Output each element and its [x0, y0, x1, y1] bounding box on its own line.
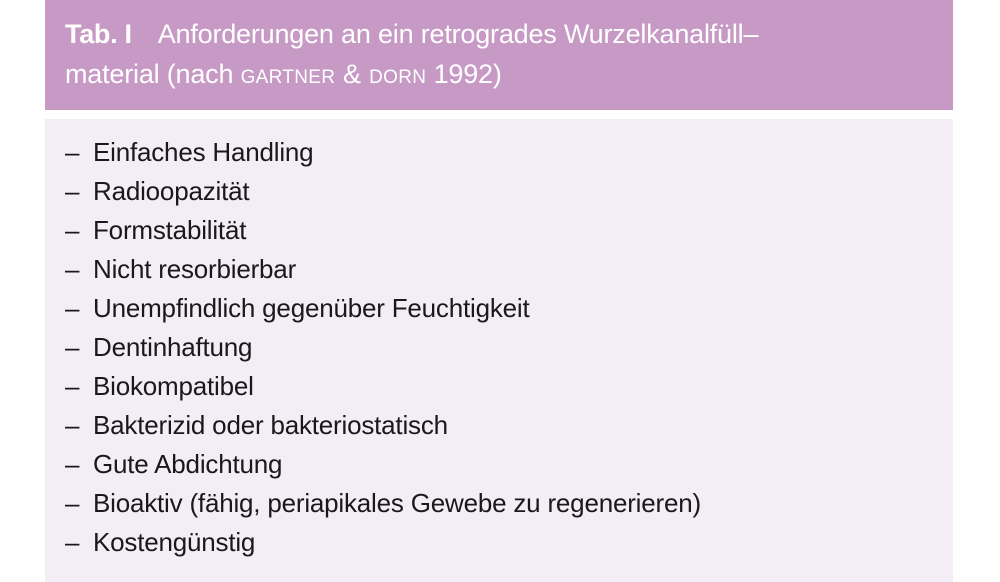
list-item: – Nicht resorbierbar	[65, 250, 933, 289]
citation-year-spacer	[426, 59, 433, 89]
table-title-text-line-1: Anforderungen an ein retrogrades Wurzelk…	[158, 19, 759, 49]
table-title-text-line-2-prefix: material (nach	[65, 59, 241, 89]
list-item: – Gute Abdichtung	[65, 445, 933, 484]
citation-year: 1992	[434, 59, 493, 89]
list-item-label: Kostengünstig	[93, 523, 255, 562]
list-item-label: Gute Abdichtung	[93, 445, 282, 484]
list-item: – Biokompatibel	[65, 367, 933, 406]
header-body-divider	[45, 110, 953, 119]
table-number-label: Tab. I	[65, 19, 132, 49]
list-item: – Kostengünstig	[65, 523, 933, 562]
list-item: – Bakterizid oder bakteriostatisch	[65, 406, 933, 445]
list-item: – Einfaches Handling	[65, 133, 933, 172]
dash-bullet-icon: –	[65, 250, 93, 289]
table-title-line-2: material (nach Gartner & Dorn 1992)	[65, 54, 933, 94]
dash-bullet-icon: –	[65, 406, 93, 445]
dash-bullet-icon: –	[65, 172, 93, 211]
list-item-label: Einfaches Handling	[93, 133, 313, 172]
list-item-label: Radioopazität	[93, 172, 249, 211]
list-item-label: Unempfindlich gegenüber Feuchtigkeit	[93, 289, 530, 328]
table-header: Tab. IAnforderungen an ein retrogrades W…	[45, 0, 953, 110]
list-item: – Bioaktiv (fähig, periapikales Gewebe z…	[65, 484, 933, 523]
list-item-label: Bioaktiv (fähig, periapikales Gewebe zu …	[93, 484, 701, 523]
citation-authors: Gartner & Dorn	[241, 59, 427, 89]
dash-bullet-icon: –	[65, 289, 93, 328]
dash-bullet-icon: –	[65, 367, 93, 406]
dash-bullet-icon: –	[65, 328, 93, 367]
list-item: – Unempfindlich gegenüber Feuchtigkeit	[65, 289, 933, 328]
list-item-label: Formstabilität	[93, 211, 246, 250]
requirements-list: – Einfaches Handling – Radioopazität – F…	[65, 133, 933, 562]
dash-bullet-icon: –	[65, 484, 93, 523]
list-item: – Formstabilität	[65, 211, 933, 250]
list-item-label: Dentinhaftung	[93, 328, 252, 367]
table-title-text-line-2-suffix: )	[493, 59, 502, 89]
list-item: – Dentinhaftung	[65, 328, 933, 367]
dash-bullet-icon: –	[65, 445, 93, 484]
dash-bullet-icon: –	[65, 211, 93, 250]
list-item-label: Nicht resorbierbar	[93, 250, 296, 289]
list-item: – Radioopazität	[65, 172, 933, 211]
dash-bullet-icon: –	[65, 133, 93, 172]
dash-bullet-icon: –	[65, 523, 93, 562]
table-title-line-1: Tab. IAnforderungen an ein retrogrades W…	[65, 14, 933, 54]
table-body: – Einfaches Handling – Radioopazität – F…	[45, 119, 953, 582]
list-item-label: Biokompatibel	[93, 367, 254, 406]
list-item-label: Bakterizid oder bakteriostatisch	[93, 406, 448, 445]
table-figure: Tab. IAnforderungen an ein retrogrades W…	[45, 0, 953, 582]
